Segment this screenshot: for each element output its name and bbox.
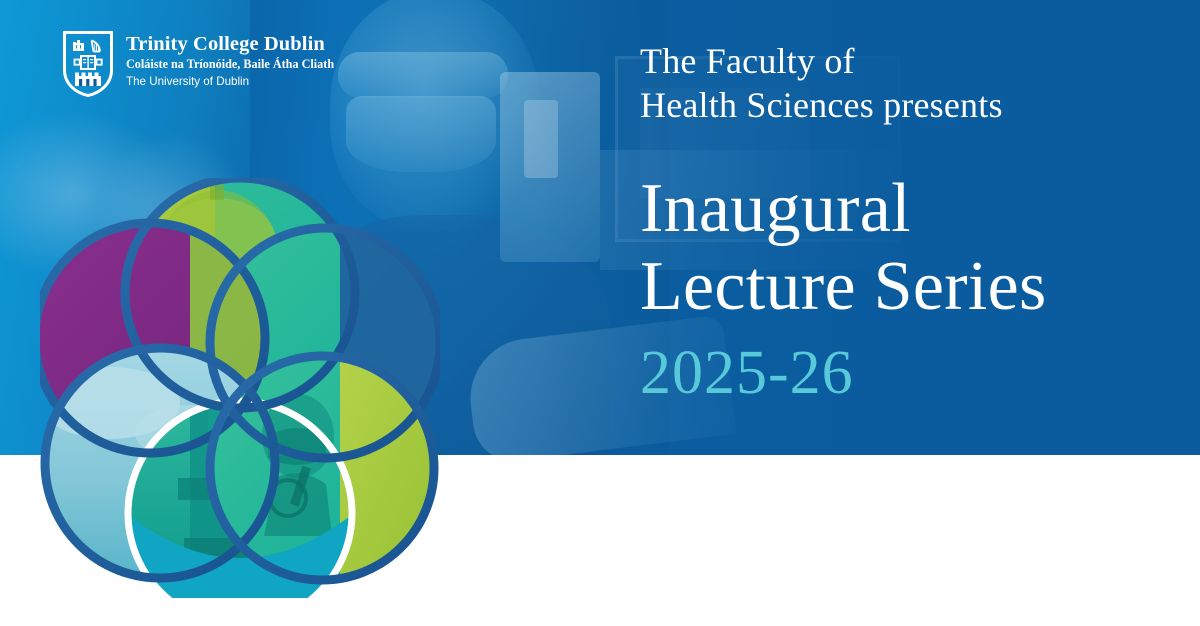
headline-block: The Faculty of Health Sciences presents … — [640, 40, 1160, 406]
kicker-line-1: The Faculty of — [640, 40, 1160, 84]
logo-wordmark: Trinity College Dublin Coláiste na Tríon… — [126, 30, 334, 91]
title-line-2: Lecture Series — [640, 248, 1160, 326]
title-line-1: Inaugural — [640, 170, 1160, 248]
poster-canvas: Trinity College Dublin Coláiste na Tríon… — [0, 0, 1200, 626]
logo-line-irish: Coláiste na Tríonóide, Baile Átha Cliath — [126, 56, 334, 74]
logo-line-university: The University of Dublin — [126, 73, 334, 90]
trinity-college-dublin-logo: Trinity College Dublin Coláiste na Tríon… — [62, 30, 334, 98]
kicker-line-2: Health Sciences presents — [640, 84, 1160, 128]
logo-line-english: Trinity College Dublin — [126, 34, 334, 56]
year-label: 2025-26 — [640, 341, 1160, 406]
trinity-college-crest-icon — [62, 30, 114, 98]
overlapping-circles-motif — [40, 178, 440, 598]
